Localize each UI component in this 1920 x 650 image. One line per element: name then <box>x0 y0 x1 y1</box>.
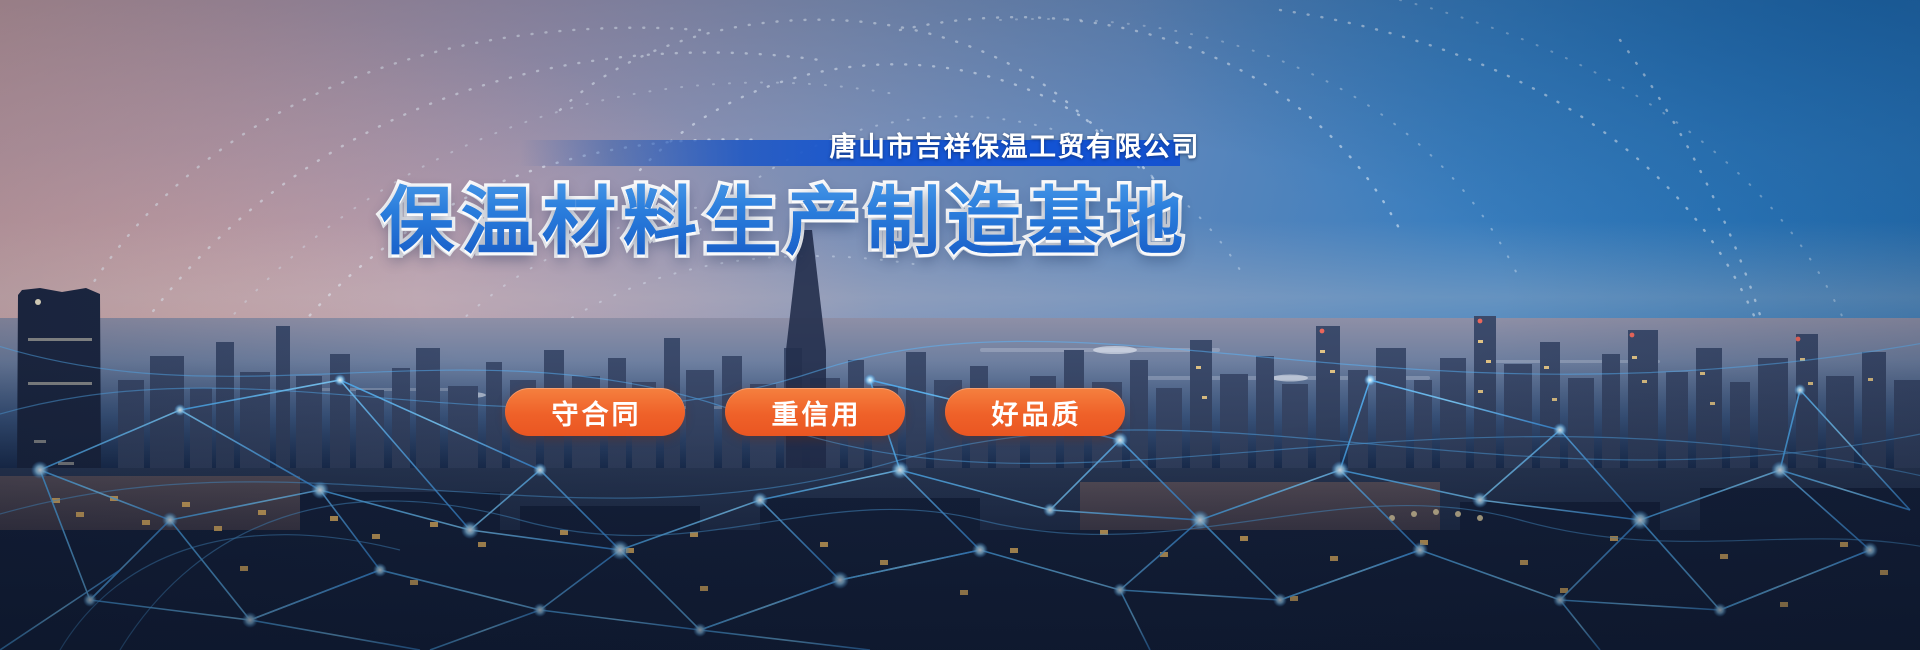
badge-hao-pin-zhi[interactable]: 好品质 <box>945 388 1125 436</box>
badge-shou-he-tong[interactable]: 守合同 <box>505 388 685 436</box>
badge-zhong-xin-yong[interactable]: 重信用 <box>725 388 905 436</box>
hero-banner: .dt { fill:none; stroke:#e9f2fb; stroke-… <box>0 0 1920 650</box>
hero-content: 唐山市吉祥保温工贸有限公司 保温材料生产制造基地 保温材料生产制造基地 守合同 … <box>0 0 1920 650</box>
page-title: 保温材料生产制造基地 <box>370 176 1200 268</box>
company-name: 唐山市吉祥保温工贸有限公司 <box>520 125 1200 169</box>
badge-list: 守合同 重信用 好品质 <box>505 388 1125 436</box>
